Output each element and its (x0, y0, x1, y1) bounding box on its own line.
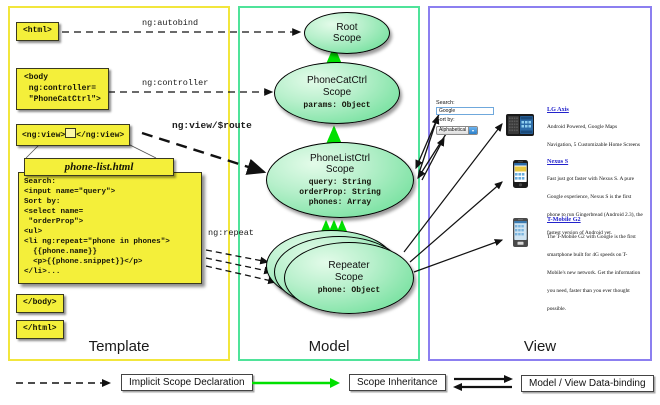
scope-repeater-name: RepeaterScope (328, 260, 369, 282)
edge-label-autobind: ng:autobind (142, 18, 198, 28)
phone-desc-lg-axis: Android Powered, Google Maps Navigation,… (547, 124, 640, 148)
scope-root-name: RootScope (333, 22, 361, 44)
phone-link-lg-axis[interactable]: LG Axis (547, 106, 643, 113)
chevron-down-icon: ▾ (468, 127, 477, 134)
close-html-tag-box: </html> (16, 320, 64, 339)
html-tag-box: <html> (16, 22, 59, 41)
ngview-close-tag: </ng:view> (76, 131, 124, 140)
close-body-tag-box: </body> (16, 294, 64, 313)
sort-label: Sort by: (436, 117, 498, 124)
ngview-open-tag: <ng:view> (22, 131, 65, 140)
phone-image-lg-axis (505, 104, 535, 150)
scope-phonelistctrl-name: PhoneListCtrlScope (310, 153, 370, 175)
legend-label-implicit-scope: Implicit Scope Declaration (121, 374, 253, 391)
edge-label-controller: ng:controller (142, 78, 208, 88)
search-input[interactable]: Google (436, 107, 494, 115)
scope-repeater-front: RepeaterScope phone: Object (284, 242, 414, 314)
legend: Implicit Scope Declaration Scope Inherit… (0, 368, 660, 405)
scope-phonecatctrl-props: params: Object (303, 101, 370, 111)
sort-select-value: Alphabetical (439, 127, 466, 133)
legend-item-implicit-scope: Implicit Scope Declaration (14, 374, 253, 391)
phone-text-tmobile-g2: T-Mobile G2 The T-Mobile G2 with Google … (547, 216, 643, 315)
phone-desc-tmobile-g2: The T-Mobile G2 with Google is the first… (547, 234, 640, 312)
green-arrow-icon (250, 376, 342, 390)
phone-list-code: Search: <input name="query"> Sort by: <s… (18, 172, 202, 284)
panel-view-label: View (430, 338, 650, 355)
legend-item-data-binding: Model / View Data-binding (452, 374, 654, 392)
ngview-slot-icon (65, 128, 76, 138)
phone-image-nexus-s (505, 158, 535, 204)
edge-label-ngview-route: ng:view/$route (172, 120, 252, 131)
body-tag-box: <body ng:controller= "PhoneCatCtrl"> (16, 68, 109, 110)
legend-item-scope-inheritance: Scope Inheritance (250, 374, 446, 391)
scope-repeater-props: phone: Object (318, 286, 380, 296)
legend-label-data-binding: Model / View Data-binding (521, 375, 654, 392)
scope-repeater-stack: RepeaterScope phone: Object (266, 230, 418, 318)
scope-root: RootScope (304, 12, 390, 54)
double-arrow-icon (452, 374, 514, 392)
phone-list-callout: Search: <input name="query"> Sort by: <s… (18, 158, 204, 286)
dashed-arrow-icon (14, 376, 114, 390)
ngview-tag-box: <ng:view></ng:view> (16, 124, 130, 146)
phone-text-lg-axis: LG Axis Android Powered, Google Maps Nav… (547, 106, 643, 151)
edge-label-ngrepeat: ng:repeat (208, 228, 254, 238)
phone-link-tmobile-g2[interactable]: T-Mobile G2 (547, 216, 643, 223)
phone-image-tmobile-g2 (505, 216, 535, 262)
phone-list-title: phone-list.html (24, 158, 174, 176)
scope-phonecatctrl: PhoneCatCtrlScope params: Object (274, 62, 400, 124)
panel-template-label: Template (10, 338, 228, 355)
phone-link-nexus-s[interactable]: Nexus S (547, 158, 643, 165)
legend-label-scope-inheritance: Scope Inheritance (349, 374, 446, 391)
sort-select[interactable]: Alphabetical ▾ (436, 126, 478, 135)
panel-model-label: Model (240, 338, 418, 355)
scope-phonecatctrl-name: PhoneCatCtrlScope (307, 75, 367, 97)
scope-phonelistctrl-props: query: StringorderProp: Stringphones: Ar… (299, 178, 381, 207)
scope-phonelistctrl: PhoneListCtrlScope query: StringorderPro… (266, 142, 414, 218)
search-label: Search: (436, 100, 498, 107)
view-search-form: Search: Google Sort by: Alphabetical ▾ (436, 100, 498, 135)
diagram-canvas: Template Model View (0, 0, 660, 405)
